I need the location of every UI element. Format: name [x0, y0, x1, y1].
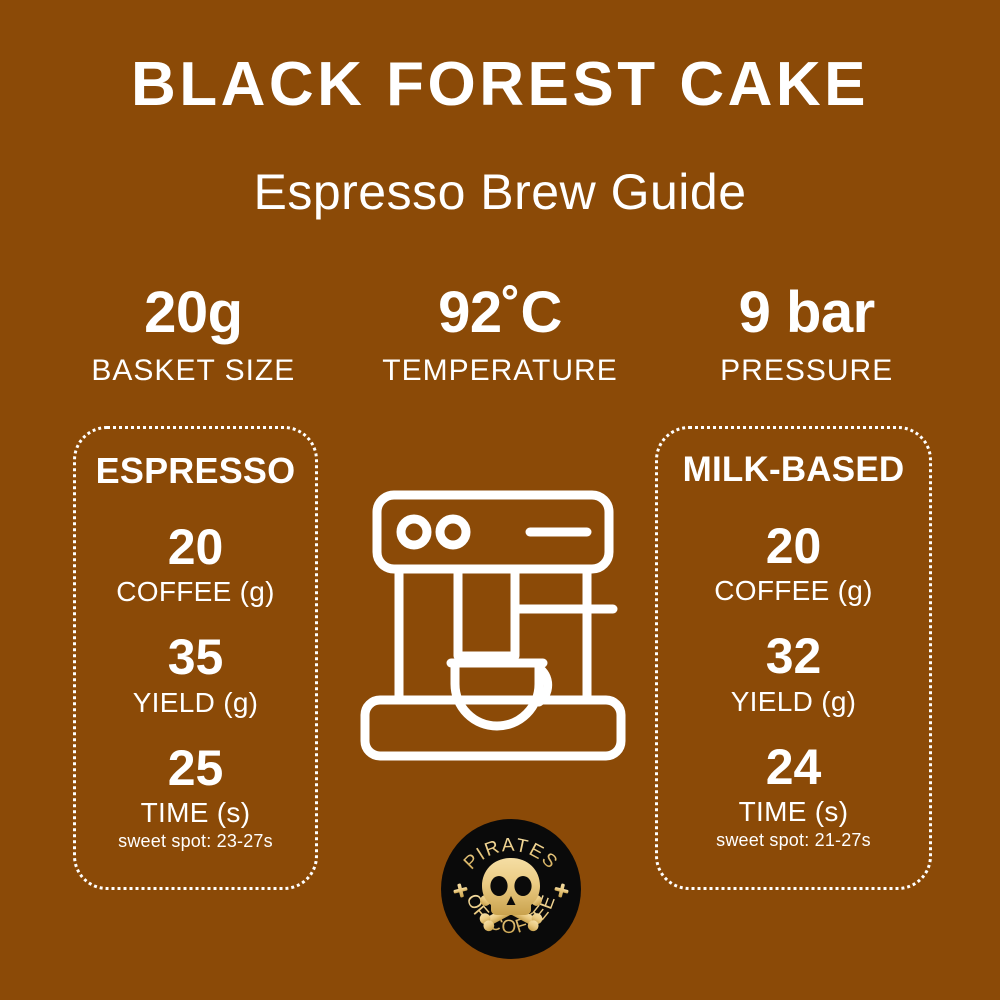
stat-basket-size: 20g BASKET SIZE	[40, 283, 347, 388]
stat-label: TEMPERATURE	[347, 354, 654, 388]
stat-temperature: 92˚C TEMPERATURE	[347, 283, 654, 388]
metric-time: 24 TIME (s) sweet spot: 21-27s	[658, 741, 929, 852]
metric-note: sweet spot: 23-27s	[76, 831, 315, 852]
stat-label: BASKET SIZE	[40, 354, 347, 388]
pirates-of-coffee-logo: PIRATES OF COFFEE	[440, 818, 582, 960]
metric-value: 20	[76, 521, 315, 574]
metric-label: COFFEE (g)	[76, 576, 315, 608]
metric-label: YIELD (g)	[658, 686, 929, 718]
stat-value: 92˚C	[347, 283, 654, 344]
metric-yield: 35 YIELD (g)	[76, 631, 315, 719]
metric-value: 20	[658, 520, 929, 573]
card-title: MILK-BASED	[658, 451, 929, 490]
stat-value: 20g	[40, 283, 347, 344]
page-title: BLACK FOREST CAKE	[0, 52, 1000, 117]
espresso-machine-icon	[355, 478, 630, 773]
metric-coffee: 20 COFFEE (g)	[658, 520, 929, 608]
metric-value: 32	[658, 630, 929, 683]
metric-label: TIME (s)	[76, 797, 315, 829]
stat-value: 9 bar	[653, 283, 960, 344]
stats-row: 20g BASKET SIZE 92˚C TEMPERATURE 9 bar P…	[40, 283, 960, 388]
stat-pressure: 9 bar PRESSURE	[653, 283, 960, 388]
metric-time: 25 TIME (s) sweet spot: 23-27s	[76, 742, 315, 853]
header: BLACK FOREST CAKE Espresso Brew Guide	[0, 0, 1000, 221]
metric-label: COFFEE (g)	[658, 575, 929, 607]
metric-value: 24	[658, 741, 929, 794]
page-subtitle: Espresso Brew Guide	[0, 163, 1000, 221]
metric-note: sweet spot: 21-27s	[658, 830, 929, 851]
stat-label: PRESSURE	[653, 354, 960, 388]
metric-label: TIME (s)	[658, 796, 929, 828]
metric-coffee: 20 COFFEE (g)	[76, 521, 315, 609]
recipe-card-espresso: ESPRESSO 20 COFFEE (g) 35 YIELD (g) 25 T…	[73, 426, 318, 890]
metric-value: 35	[76, 631, 315, 684]
recipe-card-milk-based: MILK-BASED 20 COFFEE (g) 32 YIELD (g) 24…	[655, 426, 932, 890]
metric-value: 25	[76, 742, 315, 795]
metric-label: YIELD (g)	[76, 687, 315, 719]
card-title: ESPRESSO	[76, 451, 315, 491]
metric-yield: 32 YIELD (g)	[658, 630, 929, 718]
